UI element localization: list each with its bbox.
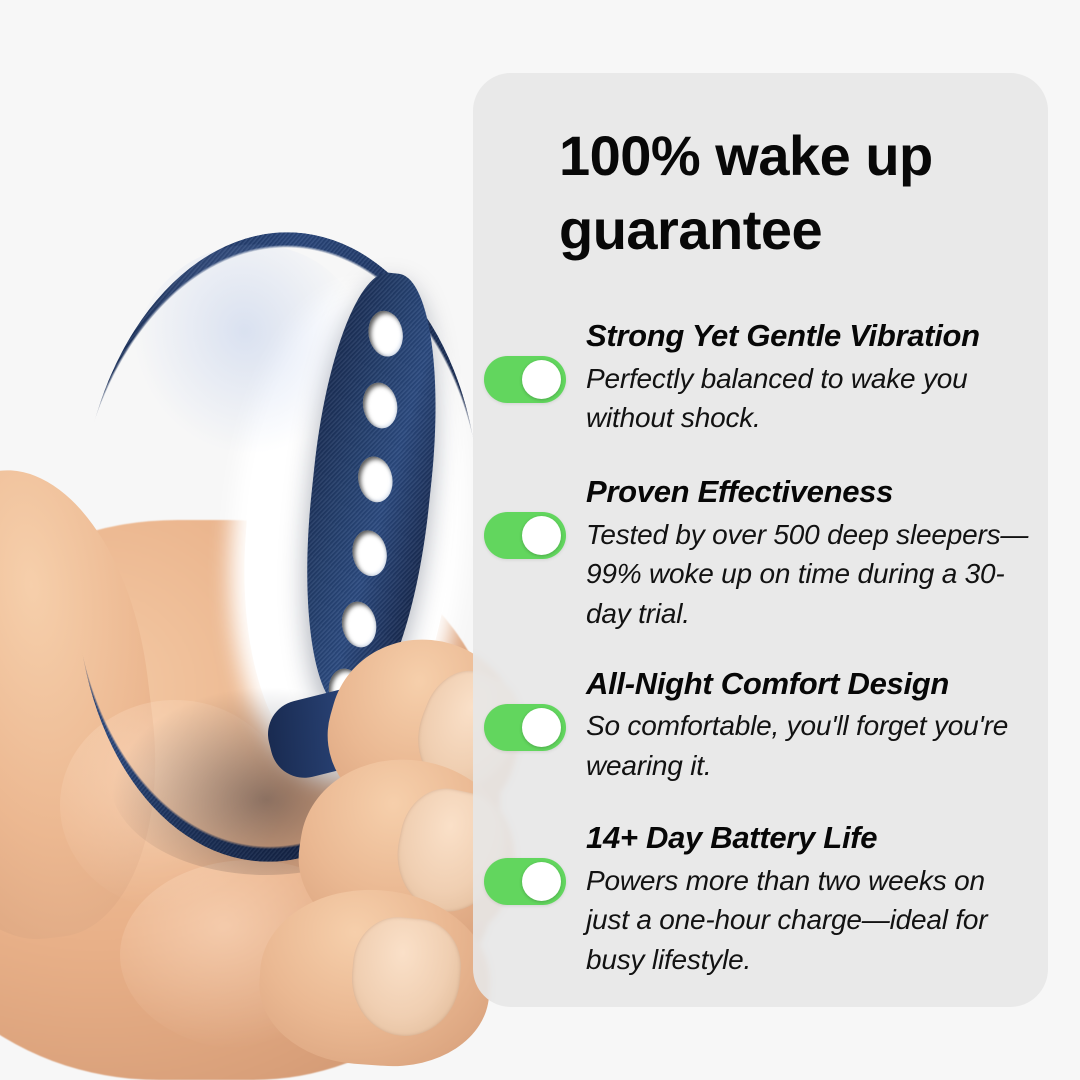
toggle-knob (522, 360, 561, 399)
feature-item: 14+ Day Battery Life Powers more than tw… (485, 820, 1048, 980)
feature-text: Proven Effectiveness Tested by over 500 … (586, 474, 1034, 634)
page-title: 100% wake up guarantee (559, 119, 999, 267)
feature-title: 14+ Day Battery Life (586, 820, 1034, 857)
feature-text: 14+ Day Battery Life Powers more than tw… (586, 820, 1034, 980)
feature-title: Proven Effectiveness (586, 474, 1034, 511)
feature-title: Strong Yet Gentle Vibration (586, 318, 1034, 355)
toggle-switch-comfort[interactable] (484, 704, 566, 751)
feature-description: Perfectly balanced to wake you without s… (586, 359, 1034, 439)
toggle-knob (522, 862, 561, 901)
feature-item: Proven Effectiveness Tested by over 500 … (485, 474, 1048, 634)
feature-text: All-Night Comfort Design So comfortable,… (586, 666, 1034, 786)
feature-list: Strong Yet Gentle Vibration Perfectly ba… (485, 318, 1048, 1007)
toggle-switch-effectiveness[interactable] (484, 512, 566, 559)
feature-title: All-Night Comfort Design (586, 666, 1034, 703)
toggle-switch-battery[interactable] (484, 858, 566, 905)
feature-description: Tested by over 500 deep sleepers—99% wok… (586, 515, 1034, 634)
feature-card: 100% wake up guarantee Strong Yet Gentle… (473, 73, 1048, 1007)
feature-description: So comfortable, you'll forget you're wea… (586, 706, 1034, 786)
feature-description: Powers more than two weeks on just a one… (586, 861, 1034, 980)
toggle-switch-vibration[interactable] (484, 356, 566, 403)
toggle-knob (522, 516, 561, 555)
feature-item: Strong Yet Gentle Vibration Perfectly ba… (485, 318, 1048, 438)
toggle-knob (522, 708, 561, 747)
feature-item: All-Night Comfort Design So comfortable,… (485, 666, 1048, 786)
feature-text: Strong Yet Gentle Vibration Perfectly ba… (586, 318, 1034, 438)
